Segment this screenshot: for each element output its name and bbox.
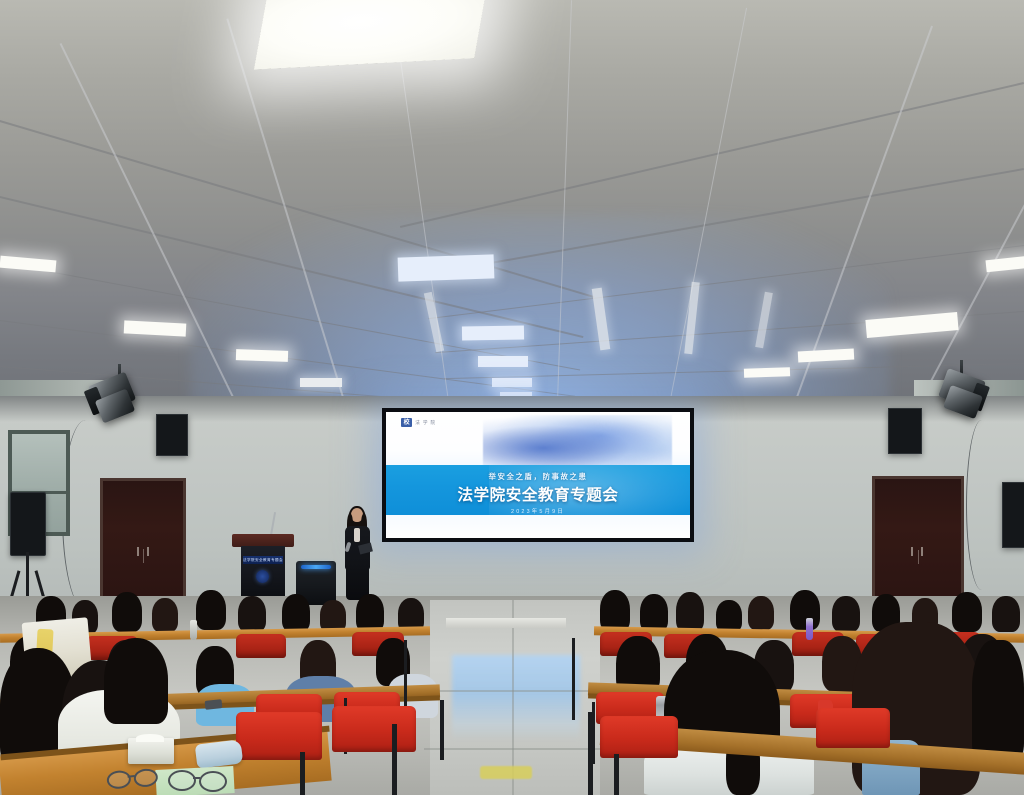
amplifier-led-indicator — [301, 565, 331, 569]
audience-head — [676, 592, 704, 632]
audience-head — [832, 596, 860, 632]
wall-speaker-left — [156, 414, 188, 456]
door-handle-right[interactable] — [911, 547, 925, 556]
chair-foreground[interactable] — [332, 706, 416, 752]
chair-foreground[interactable] — [236, 712, 322, 760]
ink-splash-graphic — [483, 415, 671, 473]
presenter-shirt — [354, 528, 360, 542]
ceiling-light-panel — [478, 356, 528, 367]
audience-head — [152, 598, 178, 632]
ceiling — [0, 0, 1024, 420]
wall-speaker-right — [888, 408, 922, 454]
audience-head — [716, 600, 742, 632]
ceiling-light-panel-main — [254, 0, 488, 70]
slide-date: 2023年5月9日 — [386, 507, 690, 515]
audience-head-foreground — [972, 640, 1024, 760]
ceiling-light-panel — [492, 378, 532, 387]
audience-head — [112, 592, 142, 632]
desk-leg — [588, 712, 593, 795]
presenter-papers — [358, 543, 373, 555]
chair-foreground[interactable] — [600, 716, 678, 758]
desk-leg — [440, 700, 444, 760]
podium-banner: 法学院安全教育专题会 — [243, 556, 283, 564]
exit-door-right[interactable] — [872, 476, 964, 604]
slide: 校 法 学 院 举安全之盾，防事故之患 法学院安全教育专题会 2023年5月9日 — [386, 412, 690, 538]
screen-reflection-on-floor — [452, 655, 580, 741]
ceiling-light-panel — [124, 320, 187, 336]
audience-head-foreground — [104, 638, 168, 724]
audience-head — [196, 590, 226, 630]
lecture-hall-photo: 校 法 学 院 举安全之盾，防事故之患 法学院安全教育专题会 2023年5月9日… — [0, 0, 1024, 795]
slide-logo-mark: 校 — [401, 418, 412, 427]
audience-head — [748, 596, 774, 630]
slide-title: 法学院安全教育专题会 — [386, 483, 690, 505]
slide-logo: 校 法 学 院 — [401, 418, 436, 427]
ceiling-light-panel — [0, 256, 56, 273]
podium-banner-text: 法学院安全教育专题会 — [243, 558, 283, 563]
slide-lower-area — [386, 515, 690, 538]
exit-door-left[interactable] — [100, 478, 186, 602]
purple-bottle — [806, 618, 813, 640]
ceiling-light-panel — [236, 349, 288, 362]
eyeglasses-lens-left — [168, 770, 196, 791]
audience-head — [992, 596, 1020, 632]
chair[interactable] — [236, 634, 286, 658]
pa-speaker-stand — [10, 492, 46, 556]
desk-leg — [614, 754, 619, 795]
front-table — [446, 618, 566, 628]
wall-speaker-far-right — [1002, 482, 1024, 548]
desk-leg — [300, 752, 305, 795]
ceiling-light-panel — [744, 367, 790, 378]
desk-leg — [392, 724, 397, 795]
eyeglasses-lens-right — [199, 771, 227, 792]
door-handle-left[interactable] — [137, 547, 150, 556]
audience-head — [238, 596, 266, 632]
slide-subtitle: 举安全之盾，防事故之患 — [386, 471, 690, 482]
chair-foreground[interactable] — [816, 708, 890, 748]
slide-logo-text: 法 学 院 — [415, 420, 436, 426]
mobile-phone[interactable] — [205, 699, 223, 710]
projection-screen[interactable]: 校 法 学 院 举安全之盾，防事故之患 法学院安全教育专题会 2023年5月9日 — [382, 408, 694, 542]
tissue-box — [128, 738, 174, 764]
audience-head — [952, 592, 982, 632]
ceiling-light-panel — [398, 254, 495, 281]
audience-head — [790, 590, 820, 630]
ceiling-light-panel — [462, 325, 524, 340]
ceiling-light-panel — [985, 256, 1024, 273]
floor-tile-line — [424, 748, 608, 750]
audience-head — [282, 594, 310, 632]
ceiling-light-panel — [300, 378, 342, 387]
podium[interactable]: 法学院安全教育专题会 — [232, 534, 294, 596]
presenter — [341, 508, 373, 600]
floor-marking — [480, 766, 532, 779]
university-emblem — [256, 570, 269, 583]
desk-leg — [572, 638, 575, 720]
power-cable — [966, 420, 997, 590]
grey-bottle — [190, 620, 197, 640]
